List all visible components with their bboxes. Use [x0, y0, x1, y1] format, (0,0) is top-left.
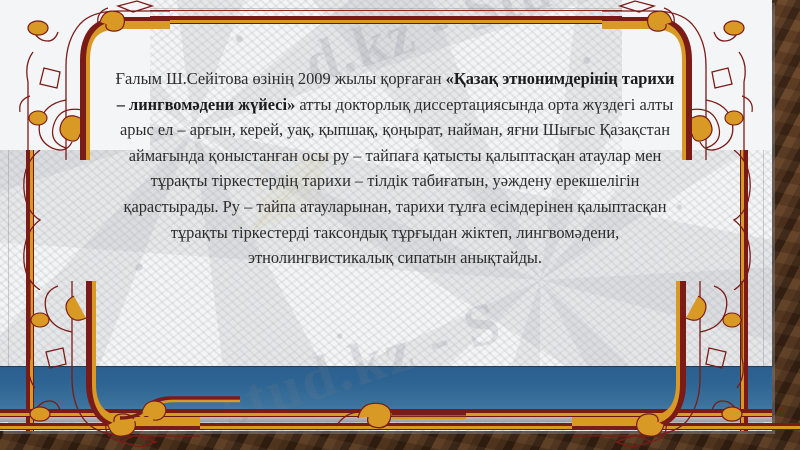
- body-part-2: атты докторлық диссертациясында орта жүз…: [120, 95, 673, 268]
- ornament-left-middle: [6, 150, 66, 290]
- slide-body-text: Ғалым Ш.Сейітова өзінің 2009 жылы қорғағ…: [112, 66, 678, 271]
- ornament-right-middle: [708, 150, 768, 290]
- presentation-slide: d.kz - Stu stud.kz - S: [0, 0, 800, 450]
- ornament-bottom-left-swirl: [120, 392, 240, 434]
- ornament-bottom-center-swirl: [336, 394, 466, 434]
- ornament-corner-bottom-right: [572, 281, 772, 450]
- body-part-1: Ғалым Ш.Сейітова өзінің 2009 жылы қорғағ…: [116, 69, 446, 88]
